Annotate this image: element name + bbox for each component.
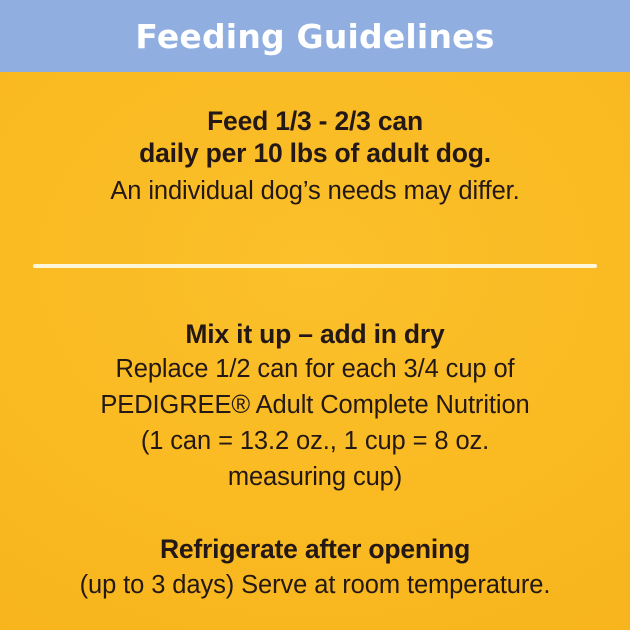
- section-mix-it-up: Mix it up – add in dry Replace 1/2 can f…: [26, 318, 604, 494]
- header-band: Feeding Guidelines: [0, 0, 630, 72]
- mix-it-up-line-3: (1 can = 13.2 oz., 1 cup = 8 oz.: [26, 422, 604, 458]
- mix-it-up-line-2: PEDIGREE® Adult Complete Nutrition: [26, 386, 604, 422]
- feeding-amount-note: An individual dog’s needs may differ.: [26, 169, 604, 208]
- spacer-above-divider: [26, 208, 604, 264]
- guidelines-body: Feed 1/3 - 2/3 can daily per 10 lbs of a…: [0, 72, 630, 630]
- mix-it-up-heading: Mix it up – add in dry: [26, 318, 604, 350]
- spacer-below-divider: [26, 268, 604, 318]
- feeding-guidelines-panel: Feeding Guidelines Feed 1/3 - 2/3 can da…: [0, 0, 630, 630]
- mix-it-up-line-1: Replace 1/2 can for each 3/4 cup of: [26, 350, 604, 386]
- section-divider: [26, 264, 604, 268]
- section-feeding-amount: Feed 1/3 - 2/3 can daily per 10 lbs of a…: [26, 72, 604, 208]
- section-storage: Refrigerate after opening (up to 3 days)…: [26, 494, 604, 602]
- divider-rule: [33, 264, 597, 268]
- page-title: Feeding Guidelines: [135, 20, 494, 53]
- mix-it-up-line-4: measuring cup): [26, 458, 604, 494]
- storage-note: (up to 3 days) Serve at room temperature…: [26, 565, 604, 602]
- storage-heading: Refrigerate after opening: [26, 533, 604, 565]
- feeding-amount-heading-line-1: Feed 1/3 - 2/3 can: [26, 105, 604, 137]
- feeding-amount-heading-line-2: daily per 10 lbs of adult dog.: [26, 137, 604, 169]
